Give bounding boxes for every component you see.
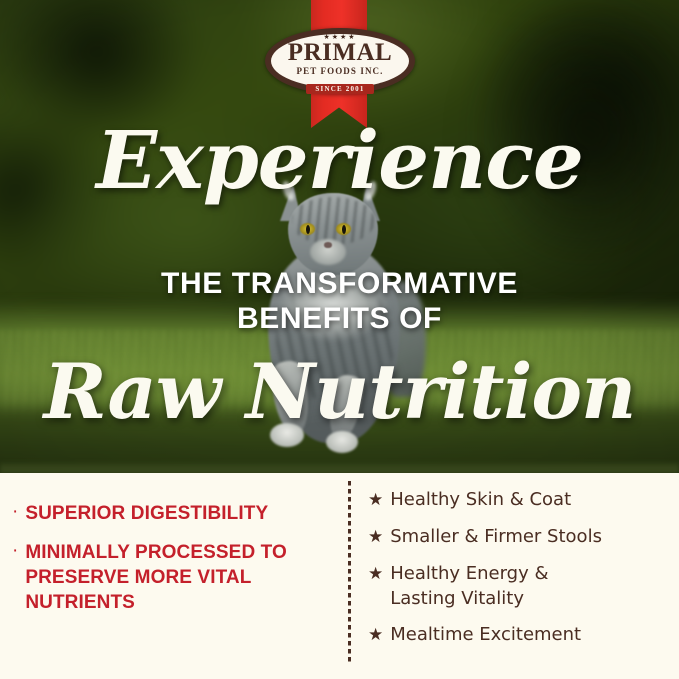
star-bullet-icon: ★ xyxy=(368,561,383,587)
list-item-label: Mealtime Excitement xyxy=(390,622,581,647)
logo-subtitle: PET FOODS INC. xyxy=(265,66,415,76)
headline-block-line-1: THE TRANSFORMATIVE xyxy=(0,266,679,301)
list-item-label: Healthy Energy & Lasting Vitality xyxy=(390,561,548,611)
list-item: ★ Smaller & Firmer Stools xyxy=(368,524,668,550)
benefits-right-column: ★ Healthy Skin & Coat ★ Smaller & Firmer… xyxy=(368,487,668,659)
photo-bottom-edge xyxy=(0,463,679,473)
list-item-label: Healthy Skin & Coat xyxy=(390,487,571,512)
star-bullet-icon: ★ xyxy=(368,524,383,550)
headline-block: THE TRANSFORMATIVE BENEFITS OF xyxy=(0,266,679,336)
logo-since-text: SINCE 2001 xyxy=(306,84,373,94)
primal-logo[interactable]: ★★★★ PRIMAL ™ PET FOODS INC. SINCE 2001 xyxy=(265,28,415,94)
dot-bullet-icon: · xyxy=(12,501,18,522)
star-bullet-icon: ★ xyxy=(368,487,383,513)
list-item: ★ Healthy Skin & Coat xyxy=(368,487,668,513)
star-bullet-icon: ★ xyxy=(368,622,383,648)
benefits-left-column: · SUPERIOR DIGESTIBILITY · MINIMALLY PRO… xyxy=(12,501,334,629)
dotted-column-divider xyxy=(348,481,351,663)
headline-block-line-2: BENEFITS OF xyxy=(0,301,679,336)
headline-script-experience: Experience xyxy=(0,120,679,200)
headline-script-raw-nutrition: Raw Nutrition xyxy=(0,352,679,432)
list-item: · MINIMALLY PROCESSED TO PRESERVE MORE V… xyxy=(12,540,334,615)
list-item-label: MINIMALLY PROCESSED TO PRESERVE MORE VIT… xyxy=(25,540,334,615)
list-item-label: Smaller & Firmer Stools xyxy=(390,524,602,549)
primal-pet-foods-poster: ★★★★ PRIMAL ™ PET FOODS INC. SINCE 2001 … xyxy=(0,0,679,679)
logo-trademark-icon: ™ xyxy=(400,46,405,52)
benefits-panel: · SUPERIOR DIGESTIBILITY · MINIMALLY PRO… xyxy=(0,473,679,679)
list-item-label: SUPERIOR DIGESTIBILITY xyxy=(25,501,268,526)
logo-since-banner: SINCE 2001 xyxy=(265,78,415,96)
dot-bullet-icon: · xyxy=(12,540,18,561)
logo-brand-name: PRIMAL xyxy=(265,40,415,66)
list-item: · SUPERIOR DIGESTIBILITY xyxy=(12,501,334,526)
list-item: ★ Healthy Energy & Lasting Vitality xyxy=(368,561,668,611)
list-item: ★ Mealtime Excitement xyxy=(368,622,668,648)
